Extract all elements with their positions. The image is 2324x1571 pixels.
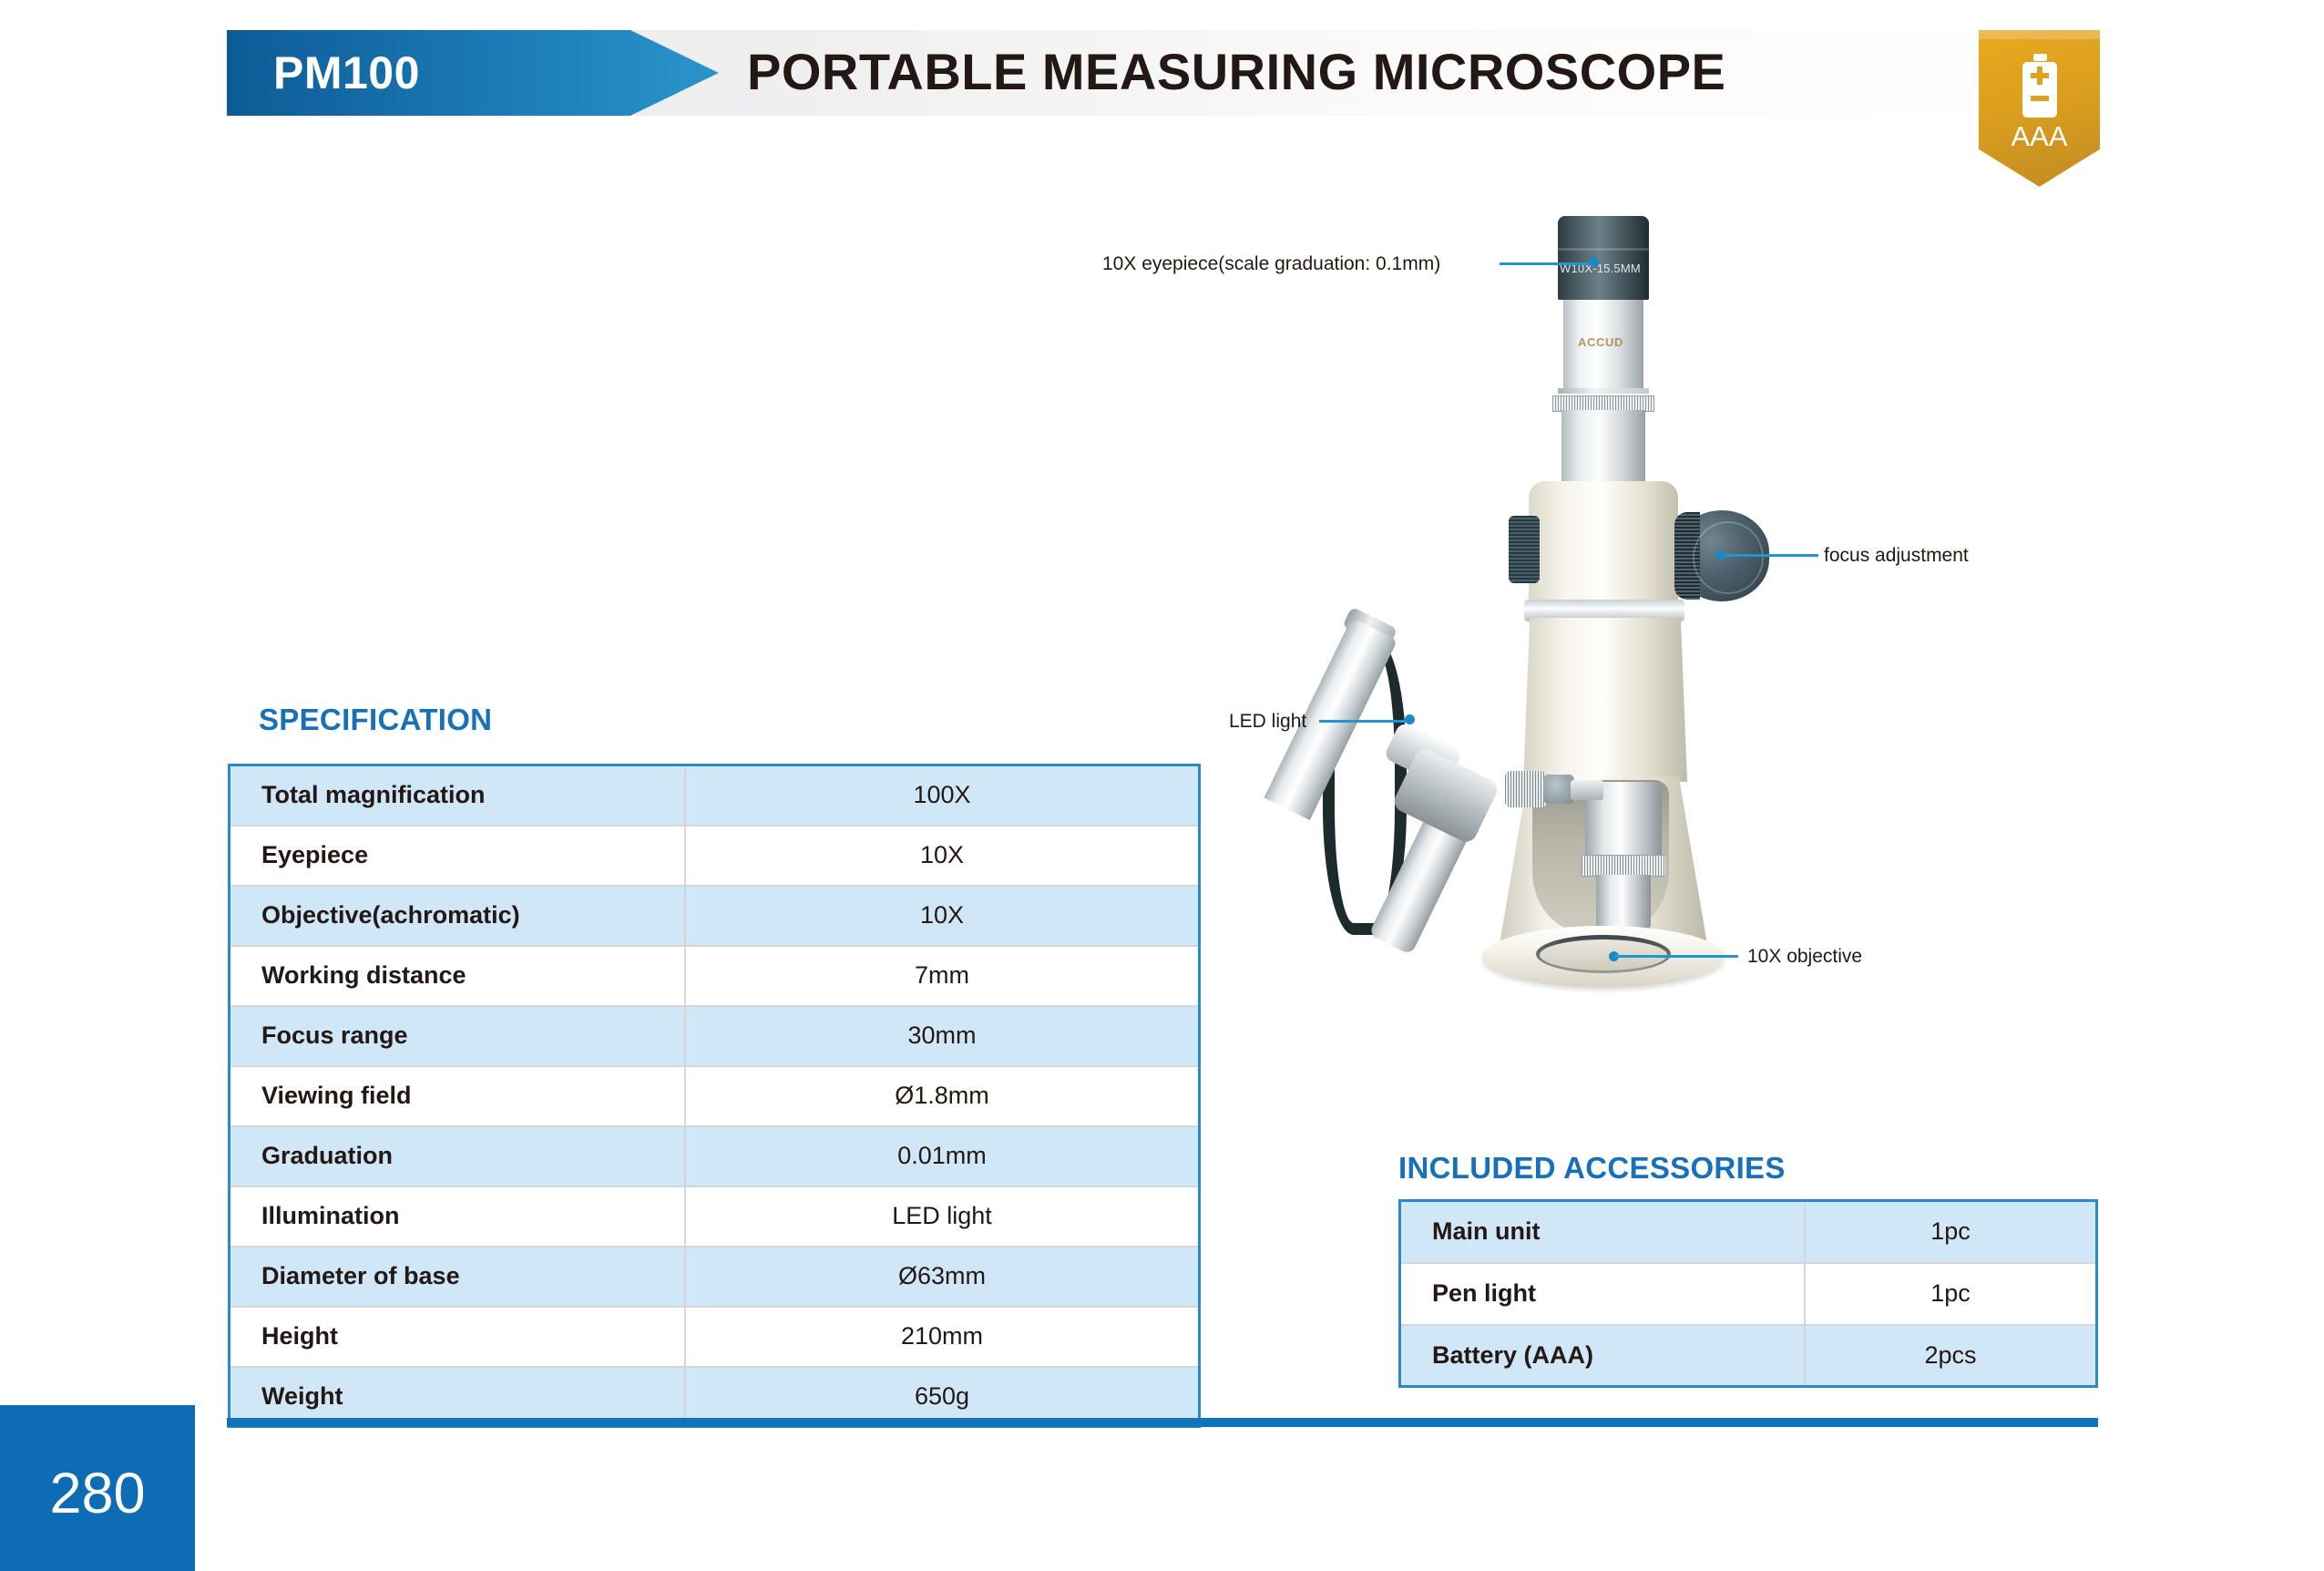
spec-label: Viewing field (230, 1066, 686, 1126)
table-row: Objective(achromatic)10X (230, 886, 1200, 946)
clamp-thumbscrew-cap (1543, 775, 1574, 804)
table-row: Diameter of baseØ63mm (230, 1247, 1200, 1307)
objective-lens-barrel (1596, 875, 1651, 931)
spec-label: Height (230, 1307, 686, 1367)
spec-value: 10X (685, 826, 1200, 886)
battery-plus-icon-vertical (2037, 67, 2042, 85)
accessory-label: Battery (AAA) (1400, 1325, 1806, 1387)
clamp-mount-stem (1571, 780, 1603, 800)
table-row: Graduation0.01mm (230, 1126, 1200, 1186)
table-row: Eyepiece10X (230, 826, 1200, 886)
microscope-upper-body (1529, 481, 1678, 605)
page-header: PM100 PORTABLE MEASURING MICROSCOPE (0, 0, 2324, 146)
eyepiece-ring (1558, 388, 1649, 394)
spec-label: Working distance (230, 946, 686, 1006)
page-number: 280 (0, 1463, 195, 1524)
model-number: PM100 (273, 49, 420, 97)
callout-label-eyepiece: 10X eyepiece(scale graduation: 0.1mm) (1102, 253, 1440, 275)
battery-minus-icon (2031, 96, 2049, 101)
eyepiece-barrel (1558, 216, 1649, 300)
callout-label-focus: focus adjustment (1824, 545, 1969, 567)
objective-knurled-ring (1582, 855, 1665, 877)
spec-value: 0.01mm (685, 1126, 1200, 1186)
battery-type-label: AAA (1979, 121, 2100, 152)
spec-label: Graduation (230, 1126, 686, 1186)
callout-dot-focus (1715, 550, 1725, 560)
specification-heading: SPECIFICATION (259, 703, 492, 736)
spec-label: Objective(achromatic) (230, 886, 686, 946)
spec-value: Ø63mm (685, 1247, 1200, 1307)
microscope-mid-body (1523, 618, 1687, 782)
badge-sheen (1979, 30, 2100, 39)
spec-value: 210mm (685, 1307, 1200, 1367)
callout-line-led (1319, 720, 1410, 723)
spec-value: Ø1.8mm (685, 1066, 1200, 1126)
table-row: Total magnification100X (230, 765, 1200, 826)
focus-knob-face (1693, 521, 1764, 594)
eyepiece-barrel-ring (1558, 248, 1649, 251)
battery-badge: AAA (1979, 30, 2100, 187)
accessory-qty: 1pc (1805, 1263, 2097, 1325)
accessory-label: Pen light (1400, 1263, 1806, 1325)
callout-line-eyepiece (1500, 262, 1594, 265)
accessory-qty: 1pc (1805, 1201, 2097, 1263)
accessory-qty: 2pcs (1805, 1325, 2097, 1387)
spec-label: Diameter of base (230, 1247, 686, 1307)
spec-value: 30mm (685, 1006, 1200, 1066)
spec-label: Illumination (230, 1186, 686, 1247)
battery-cap (2033, 54, 2047, 61)
table-row: Focus range30mm (230, 1006, 1200, 1066)
spec-value: 10X (685, 886, 1200, 946)
spec-label: Total magnification (230, 765, 686, 826)
spec-label: Eyepiece (230, 826, 686, 886)
table-row: Battery (AAA)2pcs (1400, 1325, 2097, 1387)
callout-dot-led (1405, 714, 1415, 724)
eyepiece-lower-tube (1561, 410, 1645, 481)
table-row: Pen light1pc (1400, 1263, 2097, 1325)
clamp-thumbscrew-knurl (1505, 771, 1547, 807)
table-row: Viewing fieldØ1.8mm (230, 1066, 1200, 1126)
accessories-heading: INCLUDED ACCESSORIES (1398, 1152, 1786, 1185)
table-row: Main unit1pc (1400, 1201, 2097, 1263)
accessories-table: Main unit1pc Pen light1pc Battery (AAA)2… (1398, 1199, 2098, 1388)
secondary-knob (1509, 516, 1540, 583)
brand-label: ACCUD (1578, 335, 1623, 349)
page-title: PORTABLE MEASURING MICROSCOPE (747, 44, 1725, 100)
battery-icon (2022, 54, 2057, 118)
spec-label: Focus range (230, 1006, 686, 1066)
callout-dot-eyepiece (1589, 257, 1599, 267)
callout-line-objective (1614, 955, 1738, 958)
accessory-label: Main unit (1400, 1201, 1806, 1263)
footer-rule (227, 1418, 2098, 1427)
table-row: IlluminationLED light (230, 1186, 1200, 1247)
spec-value: 7mm (685, 946, 1200, 1006)
spec-value: LED light (685, 1186, 1200, 1247)
callout-label-objective: 10X objective (1747, 946, 1862, 968)
callout-label-led: LED light (1229, 711, 1306, 733)
callout-line-focus (1720, 554, 1818, 557)
spec-value: 100X (685, 765, 1200, 826)
specification-table: Total magnification100X Eyepiece10X Obje… (228, 764, 1201, 1428)
table-row: Working distance7mm (230, 946, 1200, 1006)
table-row: Height210mm (230, 1307, 1200, 1367)
